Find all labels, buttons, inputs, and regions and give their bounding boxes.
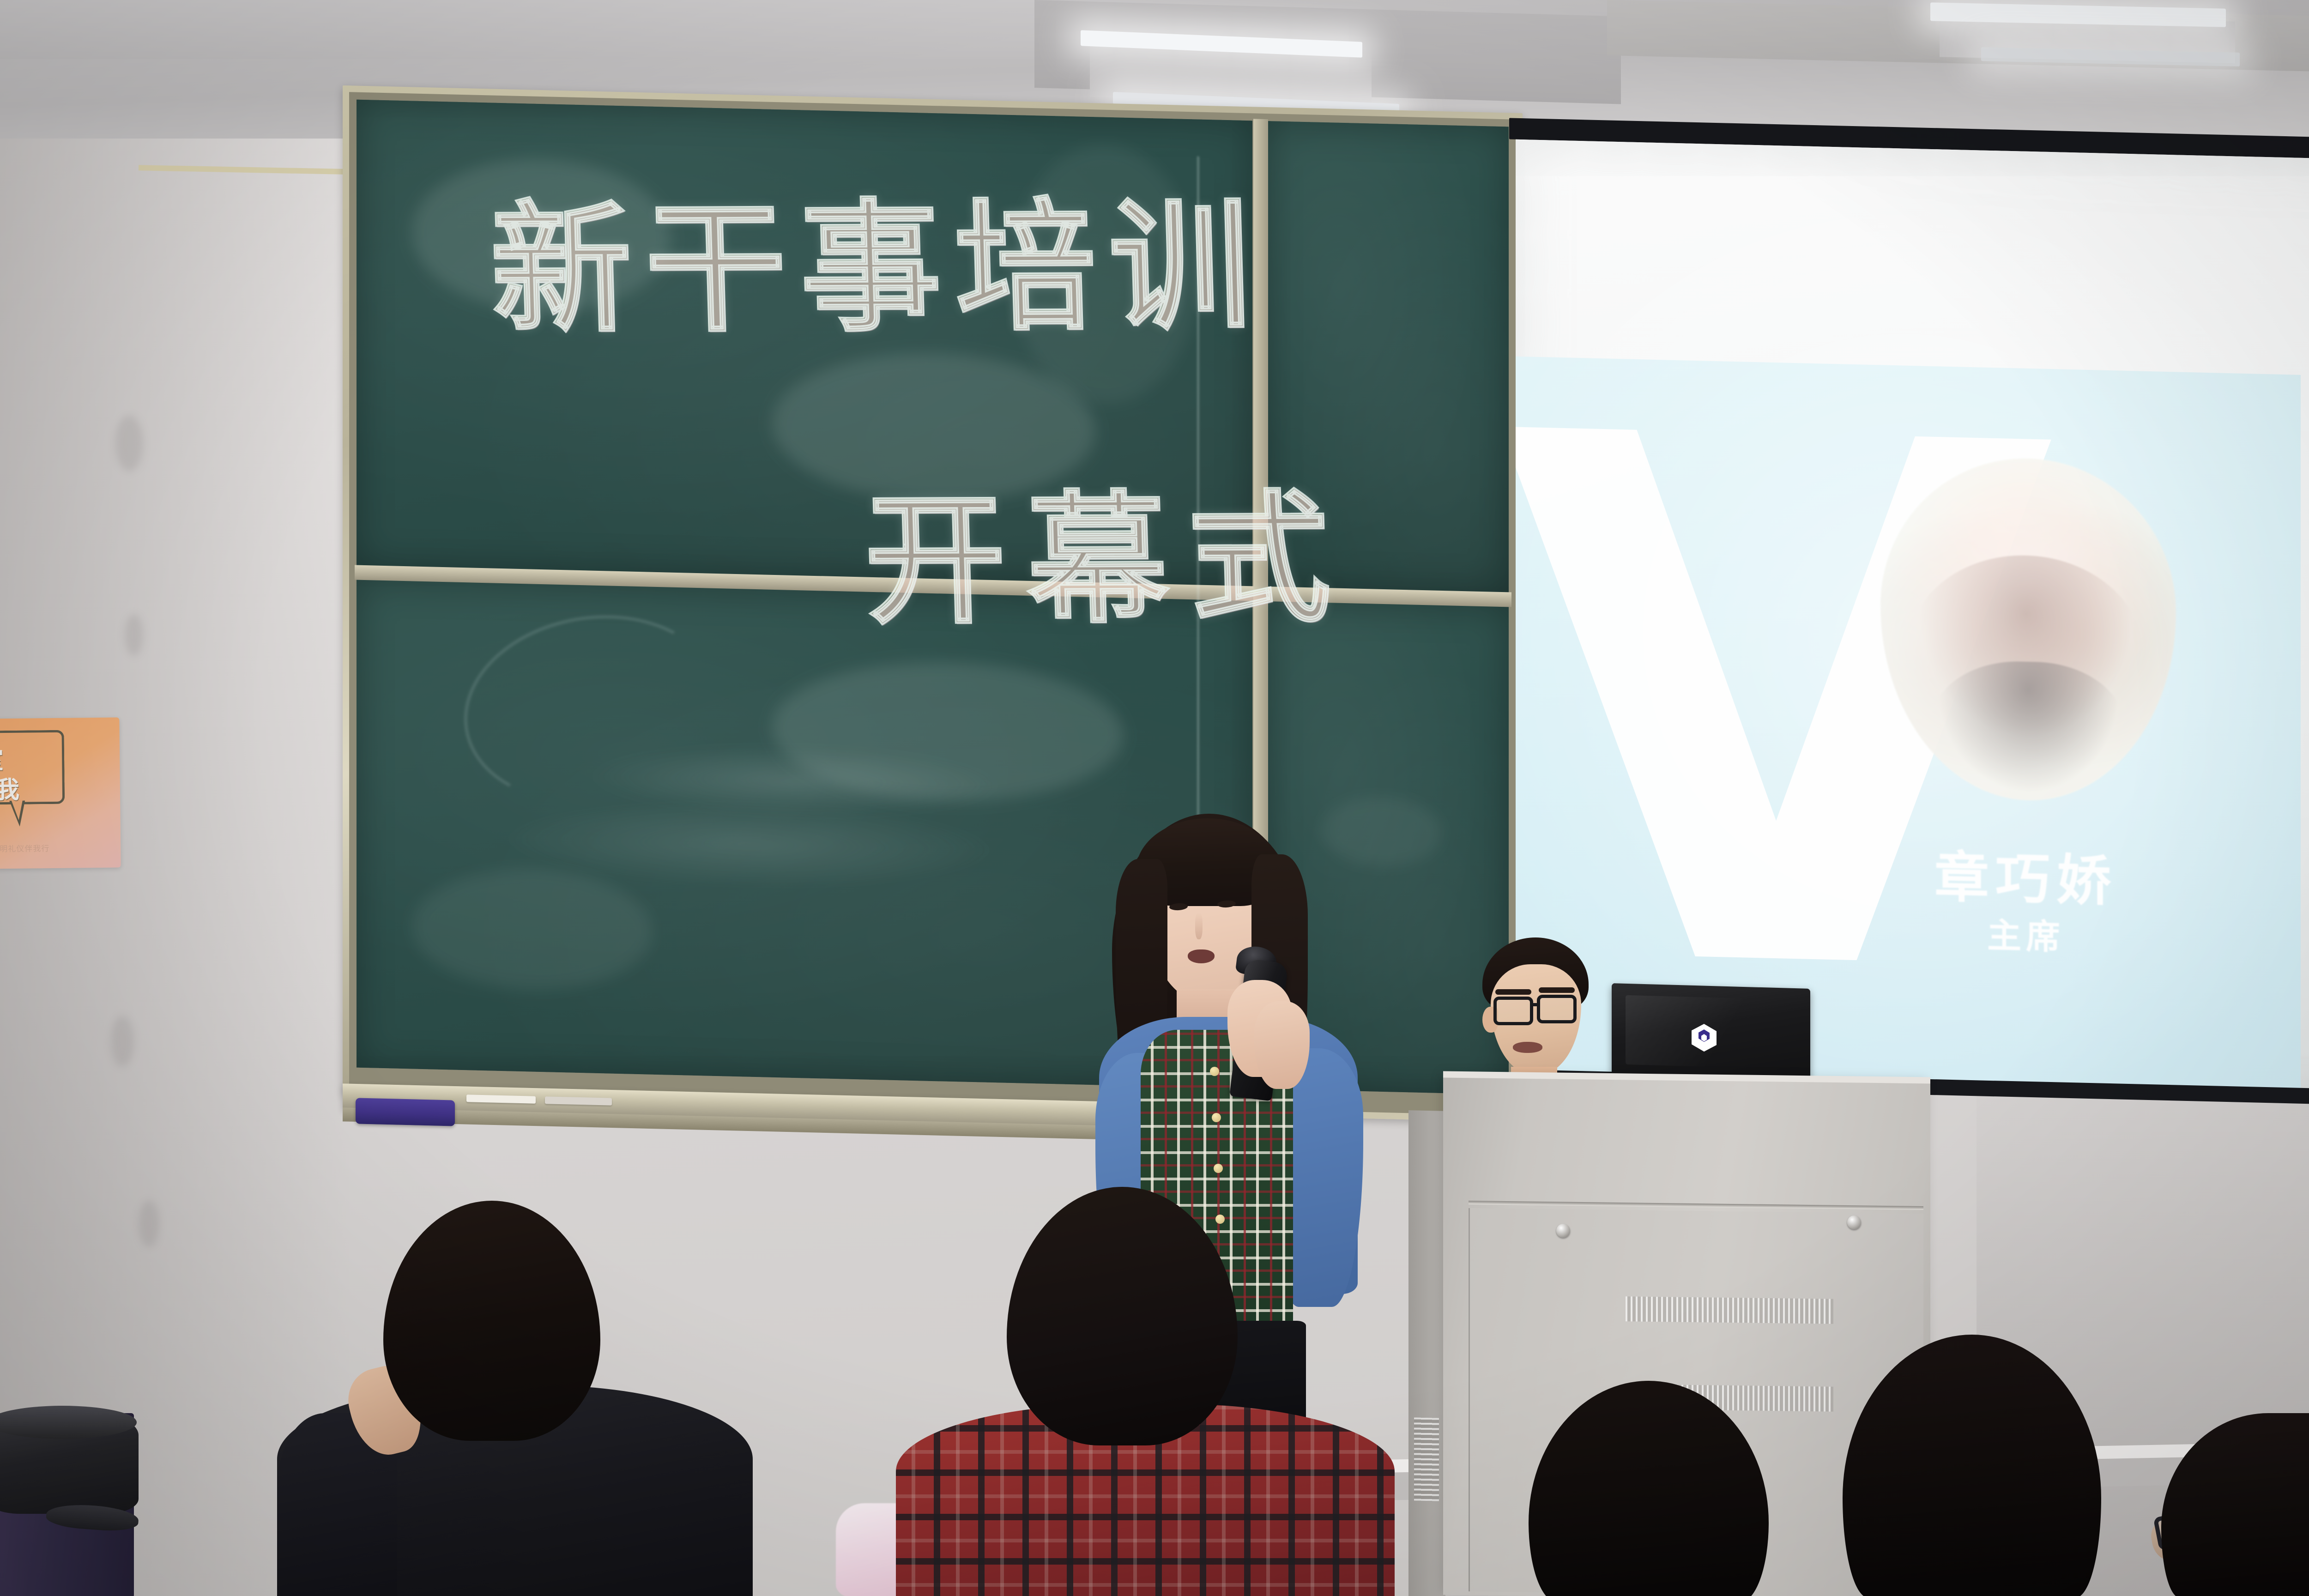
- wall-sign-footer: 文明礼仪伴我行: [0, 842, 49, 854]
- chalk-stick-2[interactable]: [545, 1096, 612, 1105]
- podium-vent-3: [1414, 1417, 1439, 1501]
- slide-portrait-torso: [1931, 659, 2125, 803]
- operator-mouth: [1513, 1042, 1542, 1053]
- presenter-button-2: [1212, 1113, 1221, 1122]
- presenter-hand-right: [1254, 1001, 1310, 1089]
- podium-side-panel: [1408, 1110, 1445, 1596]
- slide-person-name: 章巧娇: [1867, 831, 2185, 918]
- operator-brow-left: [1495, 989, 1531, 995]
- board-eraser[interactable]: [356, 1098, 455, 1126]
- chalkboard-headline-line-1: 新干事培训: [488, 151, 1267, 359]
- slide-person-role: 主席: [1867, 905, 2185, 962]
- wall-sign-poster: 教室 明你我 文明礼仪伴我行: [0, 717, 121, 869]
- eyeglasses-icon-right-lens: [1537, 995, 1577, 1023]
- presenter-nose: [1195, 913, 1203, 939]
- presenter-button-4: [1215, 1215, 1225, 1224]
- laptop-hexagon-logo-icon: [1690, 1022, 1714, 1049]
- eyeglasses-icon-left-lens: [1493, 997, 1533, 1025]
- eyeglasses-icon-bridge: [1532, 1003, 1539, 1006]
- presenter-button-1: [1210, 1067, 1219, 1076]
- podium-lock-right[interactable]: [1847, 1215, 1861, 1229]
- ceiling-soffit: [0, 0, 1039, 59]
- presenter-button-3: [1214, 1164, 1223, 1173]
- wall-scuff-4: [139, 1201, 159, 1247]
- wall-scuff-1: [115, 416, 143, 471]
- wall-scuff-2: [125, 614, 143, 656]
- presenter-mouth: [1188, 949, 1215, 963]
- chalkboard-headline-line-2: 开幕式: [862, 444, 1354, 651]
- podium-lock-left[interactable]: [1556, 1224, 1570, 1238]
- podium-vent-1: [1626, 1296, 1833, 1324]
- wall-scuff-3: [111, 1016, 134, 1067]
- wall-sign-line-2: 明你我: [0, 770, 20, 806]
- classroom-photo-scene: 教室 明你我 文明礼仪伴我行 新干事培训 开幕式: [0, 0, 2309, 1596]
- operator-brow-right: [1539, 987, 1575, 993]
